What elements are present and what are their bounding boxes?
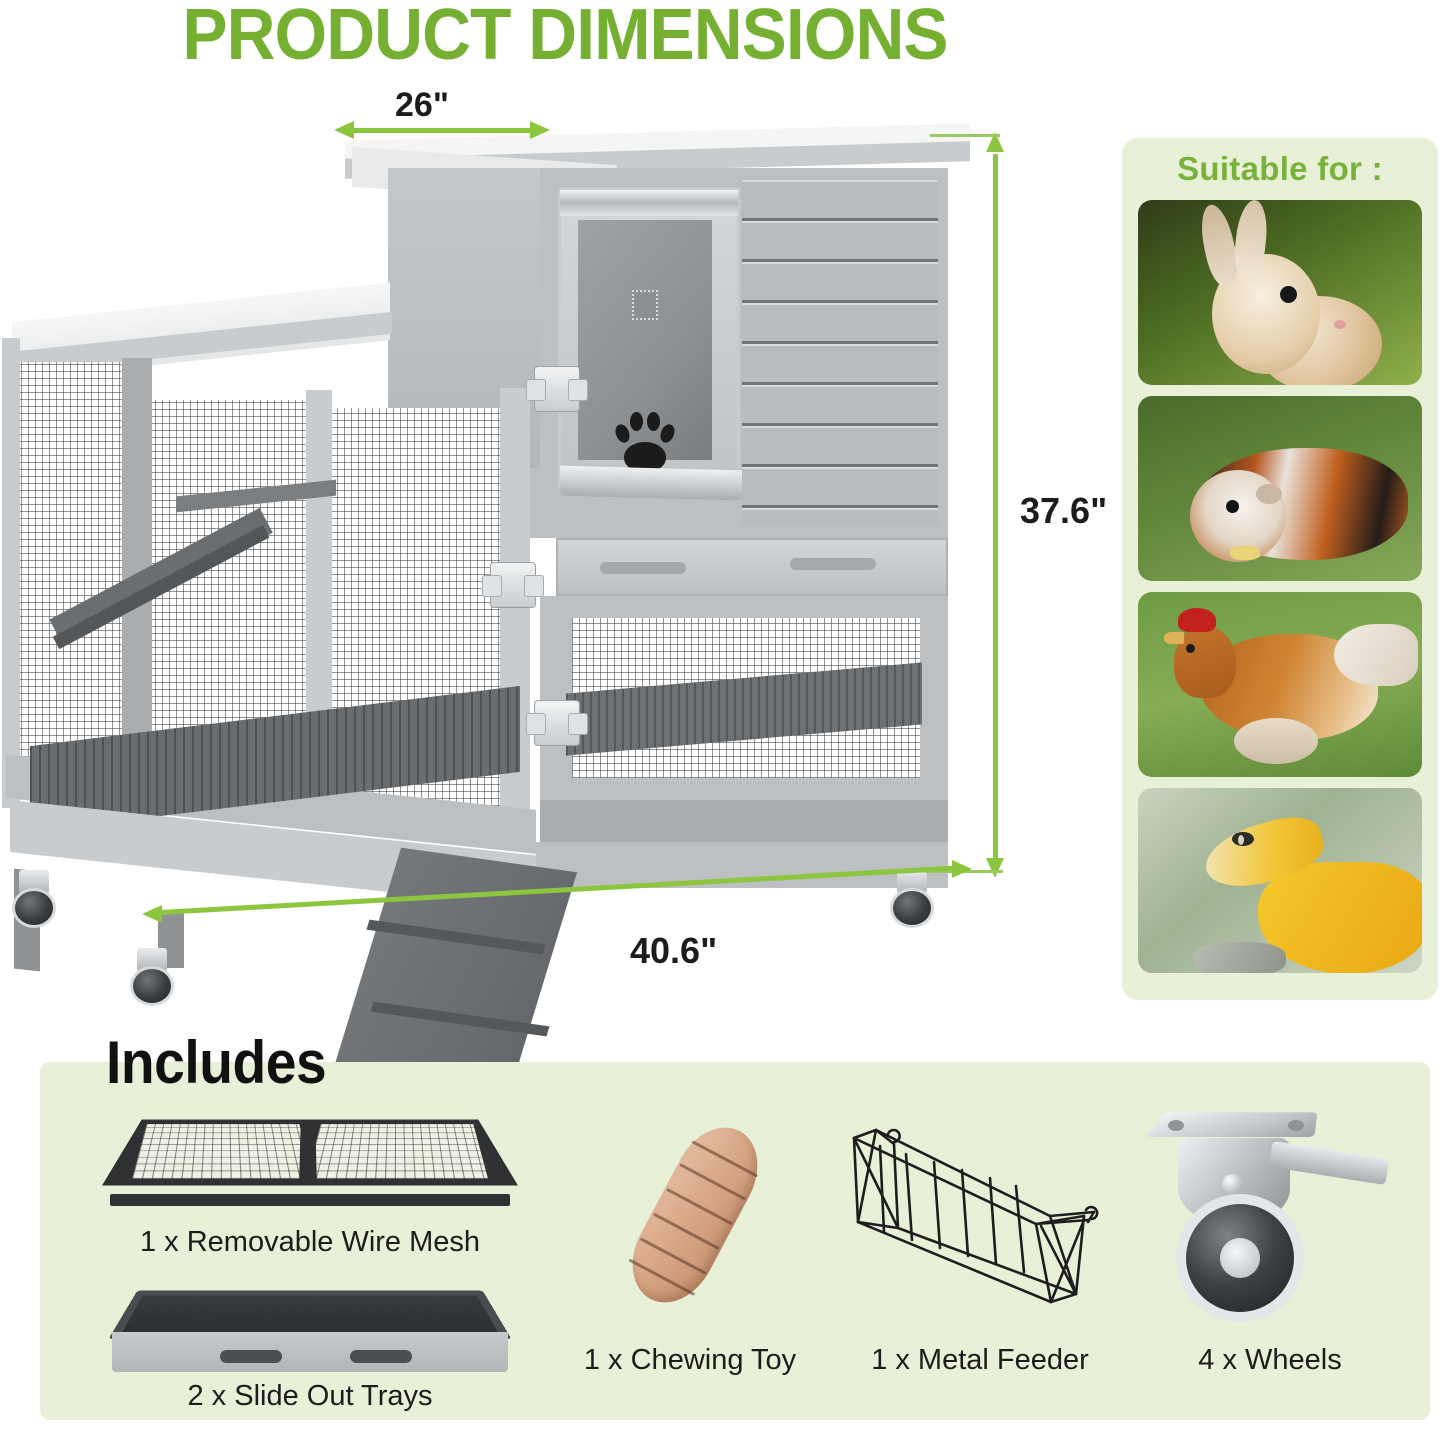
drawer-handle-left[interactable] (600, 562, 686, 574)
dimension-height-arrow (993, 154, 998, 864)
dimension-height-arrow-bottom-tip (986, 858, 1004, 878)
wire-mesh-front-rail (110, 1194, 510, 1206)
wire-mesh-center-divider (299, 1121, 317, 1184)
includes-label-slide-out-tray: 2 x Slide Out Trays (100, 1380, 520, 1413)
hutch-door-vent (632, 290, 658, 320)
caster-wheel-back-left (12, 870, 56, 928)
suitable-for-heading: Suitable for : (1122, 138, 1438, 188)
caster-plate-hole-left (1168, 1120, 1184, 1131)
hutch-slat-siding-right (742, 180, 938, 525)
drawer-handle-right[interactable] (790, 558, 876, 570)
includes-heading: Includes (106, 1028, 326, 1097)
includes-label-wire-mesh: 1 x Removable Wire Mesh (100, 1226, 520, 1259)
chewing-toy-icon (616, 1113, 774, 1317)
caster-axle-bolt (1222, 1174, 1242, 1194)
dimension-height-label: 37.6" (1020, 490, 1107, 532)
dimension-depth-arrow-right-tip (952, 860, 972, 878)
includes-item-metal-feeder (830, 1102, 1150, 1332)
wire-mesh-panel-right (306, 1124, 488, 1179)
door-top-trim (560, 190, 738, 216)
paw-print-icon (614, 410, 676, 472)
caster-hub (1220, 1238, 1260, 1278)
includes-panel: 1 x Removable Wire Mesh 2 x Slide Out Tr… (40, 1062, 1430, 1420)
includes-label-caster-wheel: 4 x Wheels (1120, 1344, 1420, 1377)
run-mesh-left-side (14, 362, 122, 792)
run-post-left (2, 338, 20, 808)
animal-photo-leopard-gecko (1138, 788, 1422, 973)
tray-front-panel (112, 1332, 508, 1372)
dimension-width-arrow (352, 128, 532, 133)
caster-plate-hole-right (1288, 1120, 1304, 1131)
hutch-lower-base-rail (540, 800, 948, 844)
hinge-middle (490, 562, 536, 608)
rabbit-hutch-illustration (0, 70, 1010, 1030)
caster-wheel-right (890, 870, 934, 928)
suitable-for-panel: Suitable for : (1122, 138, 1438, 1000)
metal-feeder-icon (836, 1116, 1136, 1316)
tray-handle-left[interactable] (220, 1350, 282, 1363)
includes-label-metal-feeder: 1 x Metal Feeder (830, 1344, 1130, 1377)
dimension-width-arrow-left-tip (334, 121, 354, 139)
dimension-depth-label: 40.6" (630, 930, 717, 972)
includes-item-wire-mesh (100, 1088, 520, 1218)
animal-photo-chicken (1138, 592, 1422, 777)
hinge-upper (534, 366, 580, 412)
dimension-width-arrow-right-tip (530, 121, 550, 139)
product-dimension-stage: 26" 37.6" 40.6" (0, 70, 1110, 1030)
includes-item-caster-wheel (1120, 1098, 1420, 1338)
animal-photo-rabbit (1138, 200, 1422, 385)
caster-wheel-front-left (130, 948, 174, 1006)
hinge-lower (534, 700, 580, 746)
dimension-width-label: 26" (395, 86, 449, 125)
dimension-depth-arrow-left-tip (142, 905, 162, 923)
includes-item-chewing-toy (560, 1096, 860, 1336)
animal-photo-guinea-pig (1138, 396, 1422, 581)
includes-label-chewing-toy: 1 x Chewing Toy (540, 1344, 840, 1377)
wire-mesh-panel-left (132, 1124, 314, 1179)
page-title: PRODUCT DIMENSIONS (34, 0, 1096, 76)
dimension-height-guide-top (930, 134, 1000, 137)
includes-item-slide-out-tray (100, 1270, 520, 1382)
door-bottom-tray (560, 466, 742, 501)
tray-handle-right[interactable] (350, 1350, 412, 1363)
